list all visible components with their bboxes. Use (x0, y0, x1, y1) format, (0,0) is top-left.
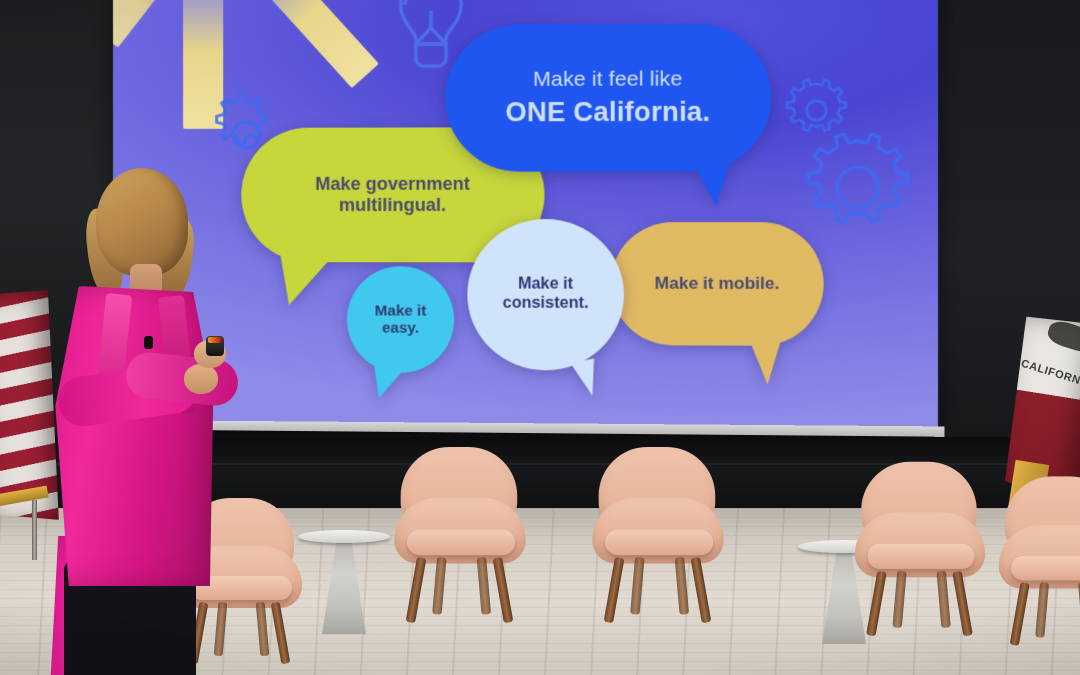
presenter (8, 160, 238, 675)
presenter-jacket (52, 286, 220, 586)
bubble-tail (275, 254, 330, 309)
bubble-tail (570, 359, 600, 399)
bubble-line-2: easy. (382, 320, 419, 338)
bubble-line-2: consistent. (503, 295, 589, 314)
lapel-microphone (144, 336, 153, 349)
bubble-line-2: ONE California. (505, 96, 710, 128)
bubble-line-1: Make it (518, 276, 573, 295)
presenter-hand (184, 364, 218, 394)
bubble-line-2: multilingual. (339, 195, 446, 216)
bubble-tail (369, 363, 406, 401)
armchair (999, 476, 1080, 647)
bubble-line-1: Make it (375, 302, 426, 320)
bubble-tail (749, 333, 790, 386)
bubble-line-1: Make it feel like (533, 68, 682, 93)
armchair (855, 462, 985, 638)
speech-bubble-consistent: Make it consistent. (467, 219, 624, 371)
gear-icon (802, 133, 913, 243)
presentation-clicker (206, 336, 224, 356)
speech-bubble-mobile: Make it mobile. (611, 222, 824, 346)
armchair (592, 447, 723, 625)
gear-icon (784, 74, 854, 143)
stage-photo: Make government multilingual. Make it fe… (0, 0, 1080, 675)
bubble-tail (695, 163, 735, 207)
california-flag-text: CALIFORNIA REPUBLIC (1020, 358, 1080, 392)
armchair (394, 447, 525, 625)
bubble-line-1: Make government (315, 174, 470, 195)
bear-emblem (1045, 318, 1080, 354)
side-table (298, 530, 390, 640)
speech-bubble-one-california: Make it feel like ONE California. (445, 24, 771, 172)
starburst-arrow-graphic (131, 0, 322, 134)
presenter-hair (96, 168, 188, 276)
bubble-line-1: Make it mobile. (655, 274, 780, 294)
speech-bubble-easy: Make it easy. (347, 266, 454, 373)
